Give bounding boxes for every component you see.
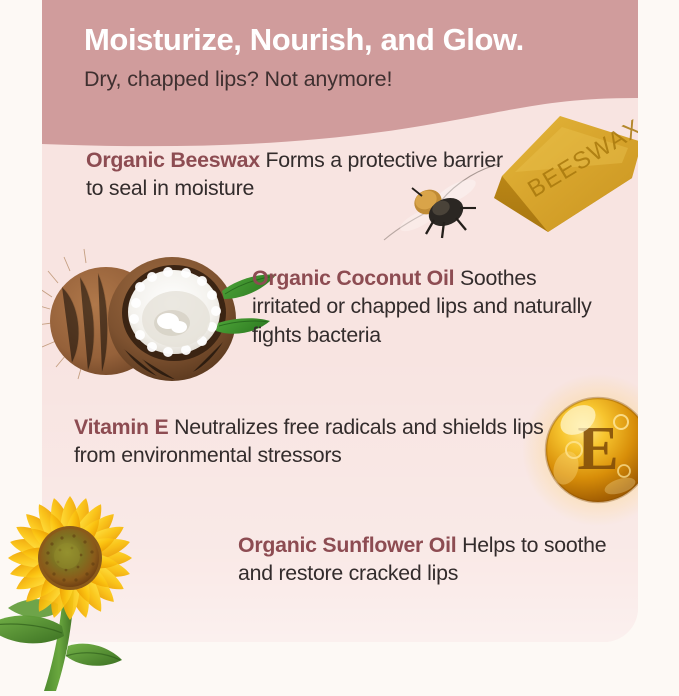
sunflower-image	[0, 486, 207, 691]
ingredient-name-sunflower-oil: Organic Sunflower Oil	[238, 533, 456, 557]
page-subtitle: Dry, chapped lips? Not anymore!	[84, 58, 638, 92]
ingredient-name-vitamin-e: Vitamin E	[74, 415, 168, 439]
page-title: Moisturize, Nourish, and Glow.	[84, 0, 638, 58]
coconut-image	[42, 237, 277, 402]
ingredient-vitamin-e: Vitamin E Neutralizes free radicals and …	[74, 413, 554, 470]
ingredient-name-beeswax: Organic Beeswax	[86, 148, 260, 172]
ingredient-name-coconut-oil: Organic Coconut Oil	[252, 266, 454, 290]
ingredient-beeswax: Organic Beeswax Forms a protective barri…	[86, 146, 506, 203]
ingredient-sunflower-oil: Organic Sunflower Oil Helps to soothe an…	[238, 531, 608, 588]
header-text-wrap: Moisturize, Nourish, and Glow. Dry, chap…	[42, 0, 638, 92]
ingredient-coconut-oil: Organic Coconut Oil Soothes irritated or…	[252, 264, 592, 349]
